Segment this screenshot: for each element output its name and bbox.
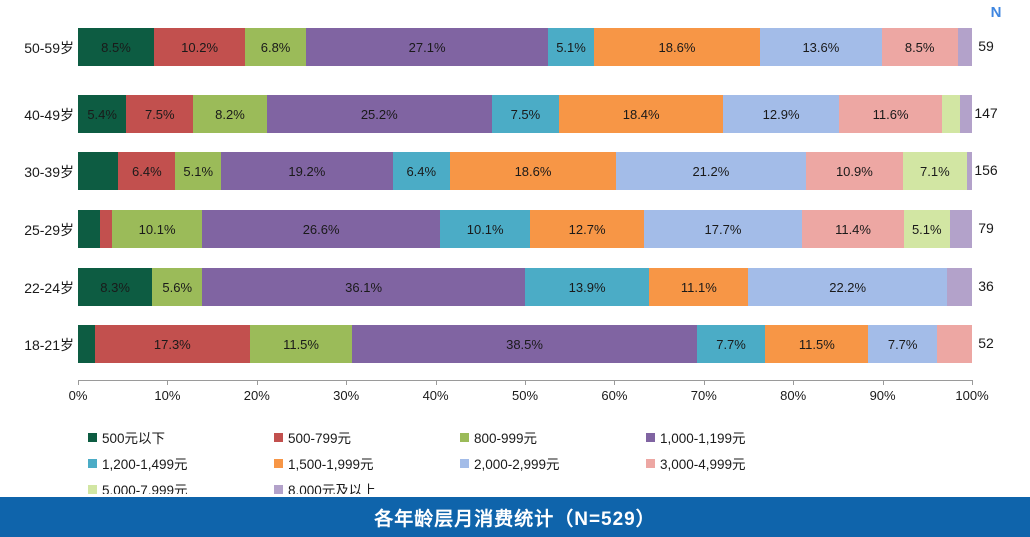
- segment-value-label: 11.5%: [799, 337, 835, 352]
- stacked-bar: 17.3%11.5%38.5%7.7%11.5%7.7%: [78, 325, 972, 363]
- bar-segment: 13.9%: [525, 268, 649, 306]
- axis-tick-label: 100%: [955, 388, 988, 403]
- axis-tick-mark: [614, 380, 615, 385]
- segment-value-label: 36.1%: [345, 280, 382, 295]
- bar-segment: 21.2%: [616, 152, 806, 190]
- bar-segment: 6.8%: [245, 28, 306, 66]
- legend-label: 1,200-1,499元: [102, 453, 188, 473]
- title-banner: 各年龄层月消费统计（N=529）: [0, 497, 1030, 537]
- legend-item[interactable]: 500元以下: [88, 427, 274, 447]
- bar-segment: [100, 210, 112, 248]
- stacked-bar: 6.4%5.1%19.2%6.4%18.6%21.2%10.9%7.1%: [78, 152, 972, 190]
- segment-value-label: 8.3%: [100, 280, 130, 295]
- segment-value-label: 13.6%: [802, 40, 839, 55]
- legend-item[interactable]: 800-999元: [460, 427, 646, 447]
- segment-value-label: 5.4%: [87, 107, 117, 122]
- bar-segment: 13.6%: [760, 28, 882, 66]
- segment-value-label: 7.5%: [145, 107, 175, 122]
- segment-value-label: 11.4%: [835, 222, 871, 237]
- axis-tick-mark: [793, 380, 794, 385]
- axis-tick-mark: [525, 380, 526, 385]
- segment-value-label: 10.1%: [467, 222, 504, 237]
- axis-tick-label: 10%: [154, 388, 180, 403]
- bar-segment: 17.7%: [644, 210, 802, 248]
- bar-segment: [78, 210, 100, 248]
- axis-tick-label: 60%: [601, 388, 627, 403]
- segment-value-label: 5.1%: [183, 164, 213, 179]
- segment-value-label: 18.4%: [623, 107, 660, 122]
- axis-tick-mark: [883, 380, 884, 385]
- n-value: 36: [966, 278, 1006, 294]
- category-label: 18-21岁: [4, 335, 74, 355]
- n-column-header: N: [991, 4, 1002, 21]
- bar-segment: 27.1%: [306, 28, 548, 66]
- bar-segment: 5.1%: [904, 210, 950, 248]
- bar-segment: 25.2%: [267, 95, 492, 133]
- bar-segment: 6.4%: [393, 152, 450, 190]
- bar-segment: [78, 152, 118, 190]
- segment-value-label: 10.9%: [836, 164, 873, 179]
- segment-value-label: 17.7%: [705, 222, 742, 237]
- axis-tick-label: 70%: [691, 388, 717, 403]
- segment-value-label: 19.2%: [288, 164, 325, 179]
- bar-segment: 19.2%: [221, 152, 393, 190]
- chart-legend: 500元以下500-799元800-999元1,000-1,199元1,200-…: [88, 424, 988, 476]
- bar-segment: 12.9%: [723, 95, 838, 133]
- bar-segment: 5.4%: [78, 95, 126, 133]
- bar-segment: [78, 325, 95, 363]
- segment-value-label: 38.5%: [506, 337, 543, 352]
- bar-segment: 11.5%: [250, 325, 353, 363]
- legend-label: 1,500-1,999元: [288, 453, 374, 473]
- legend-swatch-icon: [274, 459, 283, 468]
- bar-segment: [942, 95, 960, 133]
- category-label: 22-24岁: [4, 278, 74, 298]
- segment-value-label: 18.6%: [515, 164, 552, 179]
- stacked-bar: 10.1%26.6%10.1%12.7%17.7%11.4%5.1%: [78, 210, 972, 248]
- bar-segment: 5.1%: [548, 28, 594, 66]
- category-label: 25-29岁: [4, 220, 74, 240]
- segment-value-label: 10.1%: [139, 222, 176, 237]
- bar-segment: 18.4%: [559, 95, 723, 133]
- axis-tick-label: 20%: [244, 388, 270, 403]
- legend-item[interactable]: 3,000-4,999元: [646, 453, 832, 473]
- n-value: 59: [966, 38, 1006, 54]
- segment-value-label: 5.1%: [912, 222, 942, 237]
- segment-value-label: 5.1%: [556, 40, 586, 55]
- bar-segment: 36.1%: [202, 268, 525, 306]
- bar-segment: 18.6%: [450, 152, 616, 190]
- legend-label: 500元以下: [102, 427, 165, 447]
- legend-item[interactable]: 1,000-1,199元: [646, 427, 832, 447]
- bar-segment: 6.4%: [118, 152, 175, 190]
- segment-value-label: 22.2%: [829, 280, 866, 295]
- segment-value-label: 8.5%: [905, 40, 935, 55]
- bar-segment: 8.5%: [882, 28, 958, 66]
- stacked-bar: 5.4%7.5%8.2%25.2%7.5%18.4%12.9%11.6%: [78, 95, 972, 133]
- legend-swatch-icon: [88, 459, 97, 468]
- segment-value-label: 6.4%: [406, 164, 436, 179]
- segment-value-label: 12.7%: [569, 222, 606, 237]
- n-value: 156: [966, 162, 1006, 178]
- axis-tick-mark: [257, 380, 258, 385]
- segment-value-label: 10.2%: [181, 40, 218, 55]
- axis-tick-label: 40%: [423, 388, 449, 403]
- axis-tick-mark: [78, 380, 79, 385]
- segment-value-label: 26.6%: [303, 222, 340, 237]
- bar-segment: 5.6%: [152, 268, 202, 306]
- bar-segment: 10.9%: [806, 152, 903, 190]
- legend-swatch-icon: [646, 433, 655, 442]
- bar-segment: 11.6%: [839, 95, 943, 133]
- bar-segment: 7.7%: [868, 325, 937, 363]
- n-value: 52: [966, 335, 1006, 351]
- legend-swatch-icon: [274, 433, 283, 442]
- segment-value-label: 7.5%: [511, 107, 541, 122]
- bar-segment: 26.6%: [202, 210, 440, 248]
- bar-segment: 5.1%: [175, 152, 221, 190]
- category-label: 30-39岁: [4, 162, 74, 182]
- segment-value-label: 7.7%: [716, 337, 746, 352]
- bar-segment: 7.1%: [903, 152, 966, 190]
- bar-segment: 8.3%: [78, 268, 152, 306]
- bar-segment: 7.5%: [492, 95, 559, 133]
- segment-value-label: 8.5%: [101, 40, 131, 55]
- segment-value-label: 25.2%: [361, 107, 398, 122]
- bar-segment: 7.5%: [126, 95, 193, 133]
- segment-value-label: 7.1%: [920, 164, 950, 179]
- bar-segment: 11.4%: [802, 210, 904, 248]
- axis-tick-mark: [704, 380, 705, 385]
- legend-label: 1,000-1,199元: [660, 427, 746, 447]
- segment-value-label: 21.2%: [692, 164, 729, 179]
- legend-swatch-icon: [274, 485, 283, 494]
- bar-segment: 10.1%: [440, 210, 530, 248]
- legend-item[interactable]: 1,500-1,999元: [274, 453, 460, 473]
- segment-value-label: 17.3%: [154, 337, 191, 352]
- bar-segment: 38.5%: [352, 325, 696, 363]
- category-label: 40-49岁: [4, 105, 74, 125]
- segment-value-label: 11.5%: [283, 337, 319, 352]
- bar-segment: 8.2%: [193, 95, 266, 133]
- bar-segment: 7.7%: [697, 325, 766, 363]
- axis-tick-mark: [346, 380, 347, 385]
- axis-tick-label: 30%: [333, 388, 359, 403]
- segment-value-label: 5.6%: [162, 280, 192, 295]
- legend-swatch-icon: [88, 485, 97, 494]
- bar-segment: 12.7%: [530, 210, 644, 248]
- bar-segment: 8.5%: [78, 28, 154, 66]
- bar-segment: 11.5%: [765, 325, 868, 363]
- segment-value-label: 8.2%: [215, 107, 245, 122]
- legend-label: 3,000-4,999元: [660, 453, 746, 473]
- stacked-bar: 8.5%10.2%6.8%27.1%5.1%18.6%13.6%8.5%: [78, 28, 972, 66]
- axis-tick-mark: [167, 380, 168, 385]
- stacked-bar: 8.3%5.6%36.1%13.9%11.1%22.2%: [78, 268, 972, 306]
- axis-tick-mark: [972, 380, 973, 385]
- segment-value-label: 13.9%: [569, 280, 606, 295]
- axis-tick-label: 80%: [780, 388, 806, 403]
- axis-tick-label: 90%: [870, 388, 896, 403]
- chart-title: 各年龄层月消费统计（N=529）: [374, 504, 656, 531]
- legend-label: 800-999元: [474, 427, 537, 447]
- legend-item[interactable]: 500-799元: [274, 427, 460, 447]
- legend-swatch-icon: [88, 433, 97, 442]
- bar-segment: 10.1%: [112, 210, 202, 248]
- segment-value-label: 6.8%: [261, 40, 291, 55]
- category-label: 50-59岁: [4, 38, 74, 58]
- axis-tick-label: 0%: [69, 388, 88, 403]
- axis-tick-mark: [436, 380, 437, 385]
- bar-segment: 22.2%: [748, 268, 946, 306]
- bar-segment: 17.3%: [95, 325, 250, 363]
- bar-segment: 11.1%: [649, 268, 748, 306]
- segment-value-label: 11.1%: [681, 280, 717, 295]
- legend-swatch-icon: [646, 459, 655, 468]
- segment-value-label: 12.9%: [763, 107, 800, 122]
- n-value: 147: [966, 105, 1006, 121]
- axis-tick-label: 50%: [512, 388, 538, 403]
- stacked-bar-chart: N 50-59岁8.5%10.2%6.8%27.1%5.1%18.6%13.6%…: [0, 0, 1030, 410]
- segment-value-label: 7.7%: [888, 337, 918, 352]
- legend-label: 2,000-2,999元: [474, 453, 560, 473]
- bar-segment: 18.6%: [594, 28, 760, 66]
- segment-value-label: 11.6%: [873, 107, 909, 122]
- segment-value-label: 27.1%: [409, 40, 446, 55]
- n-value: 79: [966, 220, 1006, 236]
- segment-value-label: 18.6%: [659, 40, 696, 55]
- legend-swatch-icon: [460, 459, 469, 468]
- legend-item[interactable]: 2,000-2,999元: [460, 453, 646, 473]
- legend-label: 500-799元: [288, 427, 351, 447]
- legend-swatch-icon: [460, 433, 469, 442]
- legend-item[interactable]: 1,200-1,499元: [88, 453, 274, 473]
- segment-value-label: 6.4%: [132, 164, 162, 179]
- bar-segment: 10.2%: [154, 28, 245, 66]
